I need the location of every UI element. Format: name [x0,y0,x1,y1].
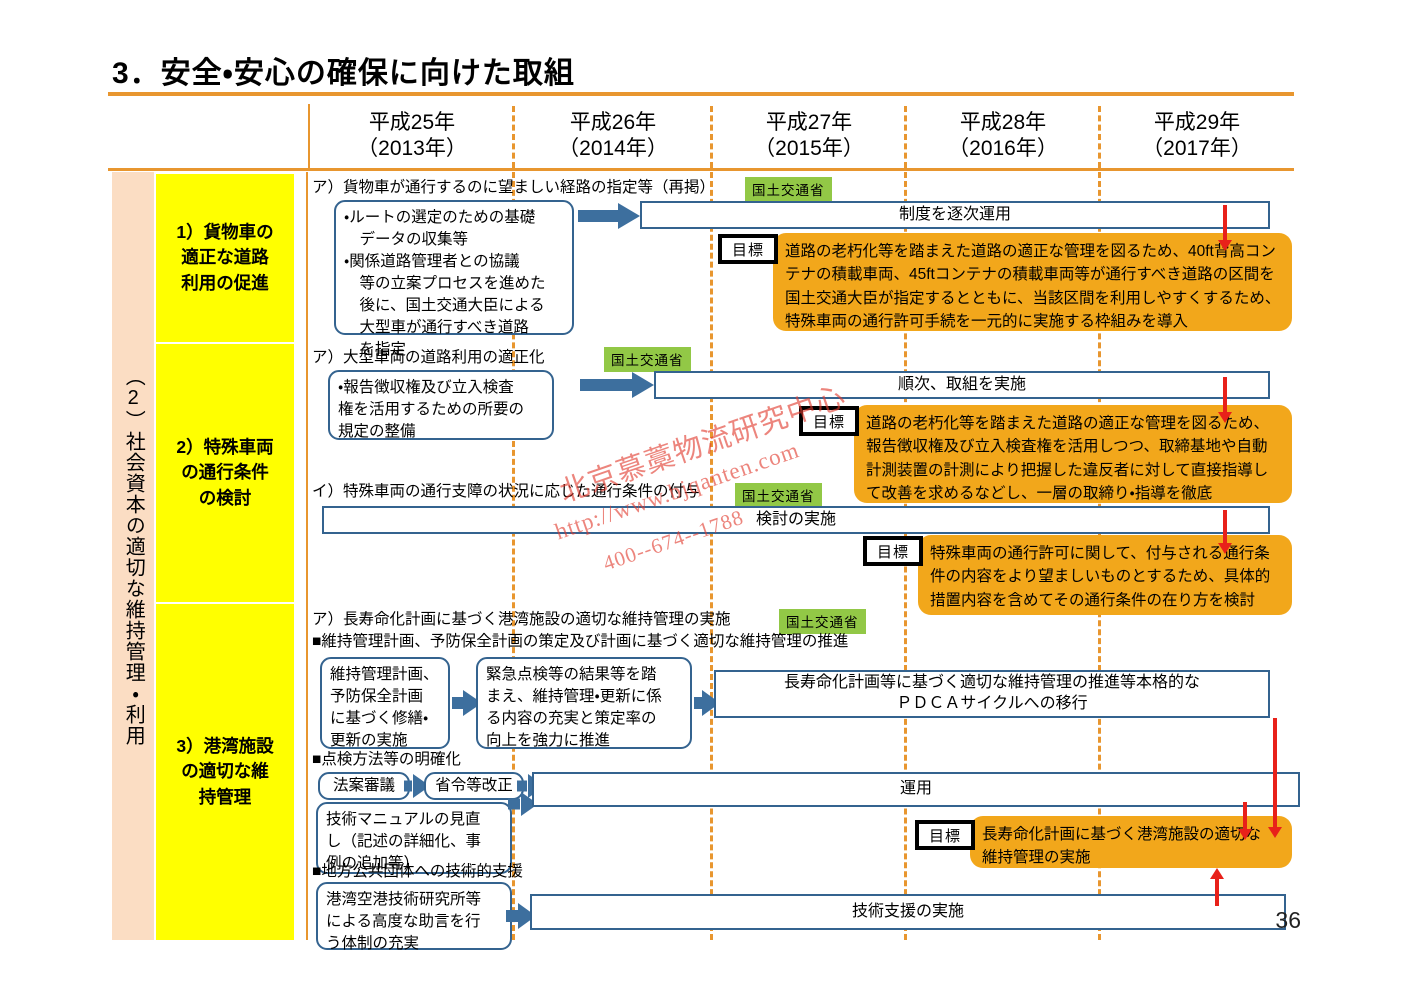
row2-target-badge-b: 目標 [863,536,923,566]
row3-red-down-arrow-icon-b [1268,718,1282,838]
timeline-gridline-2015 [710,172,713,940]
year-header-2017: 平成29年 （2017年） [1100,104,1294,168]
row3-box-emergency-inspection[interactable]: 緊急点検等の結果等を踏 まえ、維持管理・更新に係 る内容の充実と策定率の 向上を… [476,657,692,749]
year-header-2015: 平成27年 （2015年） [712,104,906,168]
year-western-label: （2014年） [558,136,668,162]
subcategory-line: 持管理 [176,785,273,810]
row1-flow-arrow-icon [578,203,640,229]
page-number: 36 [1275,907,1301,934]
row2-red-down-arrow-icon-b [1218,510,1232,554]
row3-timeline-bar-operation[interactable]: 運用 [532,772,1300,807]
row3-subheading-3: ■地方公共団体への技術的支援 [312,862,523,882]
row1-target-callout[interactable]: 道路の老朽化等を踏まえた道路の適正な管理を図るため、40ft背高コンテナの積載車… [773,233,1292,331]
year-era-label: 平成28年 [960,110,1046,136]
row2-flow-arrow-icon [580,372,654,398]
row2-heading-a: ア）大型車両の道路利用の適正化 [312,348,545,368]
row3-red-down-arrow-icon-a [1238,802,1252,840]
row2-red-down-arrow-icon-a [1218,377,1232,423]
year-header-2016: 平成28年 （2016年） [906,104,1100,168]
row3-box-port-research-institute[interactable]: 港湾空港技術研究所等 による高度な助言を行 う体制の充実 [316,882,512,950]
ministry-tag-row2a: 国土交通省 [604,347,691,372]
subcategory-line: 3）港湾施設 [176,734,273,759]
row1-heading: ア）貨物車が通行するのに望ましい経路の指定等（再掲） [312,178,715,198]
subcategory-line: 利用の促進 [176,271,273,296]
year-western-label: （2013年） [357,136,467,162]
row2-heading-b: イ）特殊車両の通行支障の状況に応じた通行条件の付与 [312,482,700,502]
year-header-2013: 平成25年 （2013年） [310,104,514,168]
row2-target-badge-a: 目標 [799,406,859,436]
header-divider [108,168,1294,171]
row3-target-badge: 目標 [915,820,975,850]
year-era-label: 平成27年 [766,110,852,136]
row1-red-down-arrow-icon [1218,205,1232,251]
subcategory-cell-2[interactable]: 2）特殊車両 の通行条件 の検討 [156,344,294,602]
year-divider-dash [1098,106,1101,168]
row1-timeline-bar[interactable]: 制度を逐次運用 [640,201,1270,229]
slide-canvas: 3．安全・安心の確保に向けた取組 平成25年 （2013年） 平成26年 （20… [0,0,1403,992]
subcategory-cell-1[interactable]: 1）貨物車の 適正な道路 利用の促進 [156,174,294,342]
year-header-2014: 平成26年 （2014年） [514,104,712,168]
row3-subheading-1: ■維持管理計画、予防保全計画の策定及び計画に基づく適切な維持管理の推進 [312,632,848,652]
year-era-label: 平成26年 [570,110,656,136]
year-divider-dash [710,106,713,168]
year-western-label: （2015年） [754,136,864,162]
year-era-label: 平成25年 [369,110,455,136]
row2-timeline-bar-a[interactable]: 順次、取組を実施 [654,371,1270,399]
subcategory-line: の検討 [176,486,273,511]
row1-action-box[interactable]: ・ルートの選定のための基礎 データの収集等 ・関係道路管理者との協議 等の立案プ… [334,200,574,335]
ministry-tag-row1: 国土交通省 [745,177,832,202]
row1-target-badge: 目標 [718,234,778,264]
row2-timeline-bar-b[interactable]: 検討の実施 [322,506,1270,534]
row3-red-up-arrow-icon [1210,868,1224,906]
row2-target-callout-b[interactable]: 特殊車両の通行許可に関して、付与される通行条件の内容をより望ましいものとするため… [918,535,1292,615]
subcategory-line: の通行条件 [176,460,273,485]
row3-box-maintenance-plan[interactable]: 維持管理計画、 予防保全計画 に基づく修繕・ 更新の実施 [320,657,450,749]
row2-action-box[interactable]: ・報告徴収権及び立入検査 権を活用するための所要の 規定の整備 [328,370,554,440]
subcategory-cell-3[interactable]: 3）港湾施設 の適切な維 持管理 [156,604,294,940]
subcategory-line: の適切な維 [176,759,273,784]
subcategory-line: 2）特殊車両 [176,435,273,460]
row3-subheading-2: ■点検方法等の明確化 [312,750,461,770]
ministry-tag-row2b: 国土交通省 [735,483,822,508]
row3-timeline-bar-pdca[interactable]: 長寿命化計画等に基づく適切な維持管理の推進等本格的な ＰＤＣＡサイクルへの移行 [714,670,1270,718]
title-divider [108,92,1294,96]
row3-heading: ア）長寿命化計画に基づく港湾施設の適切な維持管理の実施 [312,610,731,630]
subcategory-line: 1）貨物車の [176,220,273,245]
year-western-label: （2017年） [1142,136,1252,162]
page-title: 3．安全・安心の確保に向けた取組 [112,48,575,92]
row3-box-bill-deliberation[interactable]: 法案審議 [318,772,410,800]
year-divider-dash [904,106,907,168]
subcategory-line: 適正な道路 [176,245,273,270]
year-era-label: 平成29年 [1154,110,1240,136]
year-divider-dash [512,106,515,168]
category-column-label: （2）社会資本の適切な維持管理・利用 [112,172,154,940]
year-western-label: （2016年） [948,136,1058,162]
row3-timeline-bar-tech-support[interactable]: 技術支援の実施 [530,894,1286,930]
ministry-tag-row3: 国土交通省 [779,609,866,634]
timeline-left-border [306,172,308,940]
